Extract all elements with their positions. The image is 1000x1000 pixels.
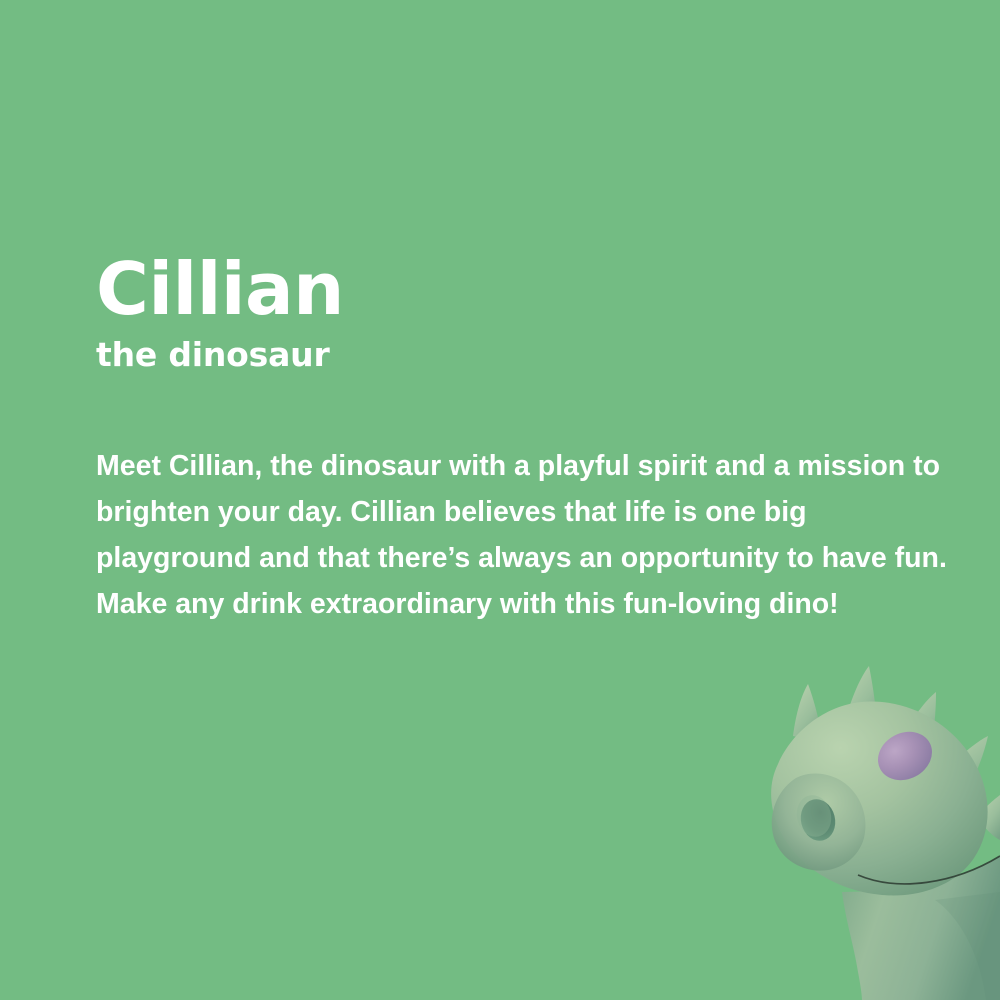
spike-icon bbox=[793, 684, 822, 742]
character-card: Cillian the dinosaur Meet Cillian, the d… bbox=[0, 0, 1000, 1000]
dinosaur-jaw-line bbox=[858, 856, 1000, 884]
dinosaur-spikes bbox=[793, 666, 1000, 840]
spike-icon bbox=[902, 692, 936, 754]
dinosaur-neck bbox=[842, 856, 1000, 1000]
nostril-icon bbox=[796, 796, 839, 845]
dinosaur-illustration bbox=[730, 660, 1000, 1000]
page-subtitle: the dinosaur bbox=[96, 338, 976, 371]
text-content-block: Cillian the dinosaur Meet Cillian, the d… bbox=[96, 255, 976, 627]
spike-icon bbox=[845, 666, 877, 734]
eye-icon bbox=[869, 723, 940, 790]
spike-icon bbox=[946, 736, 988, 790]
page-title: Cillian bbox=[96, 255, 976, 324]
character-description: Meet Cillian, the dinosaur with a playfu… bbox=[96, 443, 966, 627]
dinosaur-head bbox=[771, 701, 987, 895]
spike-icon bbox=[978, 795, 1000, 840]
